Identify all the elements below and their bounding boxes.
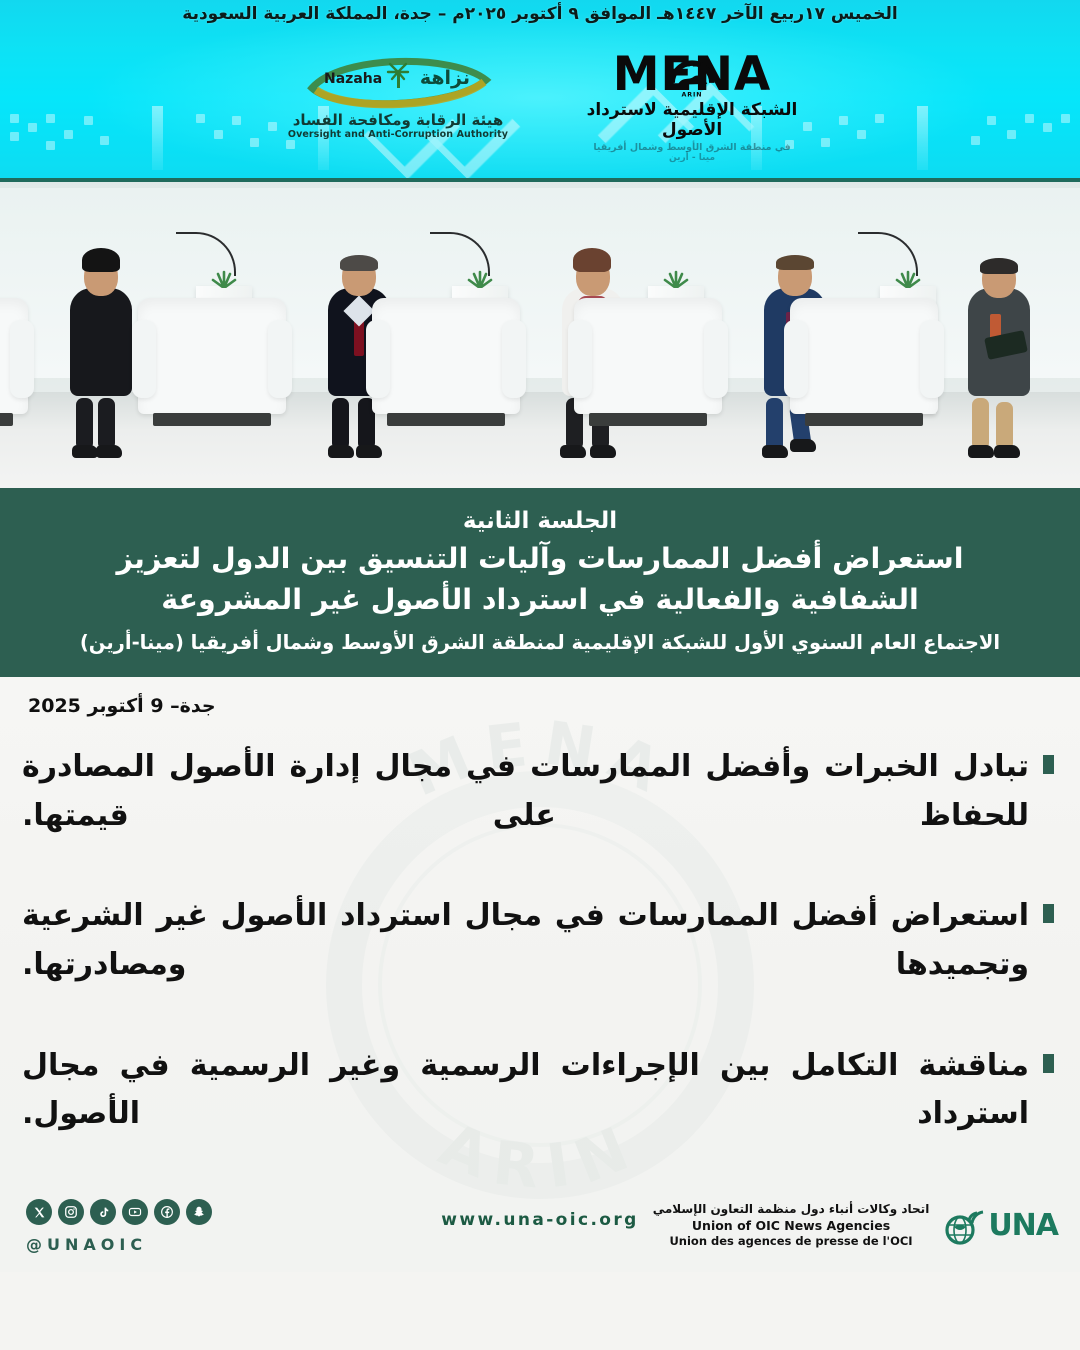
mena-arabic-short: مينا - أرين [577, 153, 807, 163]
una-arabic-name: اتحاد وكالات أنباء دول منظمة التعاون الإ… [653, 1203, 930, 1216]
chair-1 [0, 298, 28, 414]
panelist-5-hair [980, 258, 1018, 274]
chair-2 [138, 298, 286, 414]
una-text-block: اتحاد وكالات أنباء دول منظمة التعاون الإ… [653, 1203, 930, 1248]
chair-3 [372, 298, 520, 414]
una-french-name: Union des agences de presse de l'OCI [653, 1234, 930, 1248]
list-item: تبادل الخبرات وأفضل الممارسات في مجال إد… [22, 743, 1054, 840]
panelist-1-body [70, 288, 132, 396]
list-item: مناقشة التكامل بين الإجراءات الرسمية وغي… [22, 1042, 1054, 1139]
mena-arabic-name: الشبكة الإقليمية لاسترداد الأصول [577, 100, 807, 140]
svg-text:2019: 2019 [680, 59, 704, 68]
nazaha-english-wordmark: Nazaha [324, 71, 382, 87]
nazaha-authority-arabic: هيئة الرقابة ومكافحة الفساد [273, 111, 523, 129]
content-area: MENA ARIN جدة– 9 أكتوبر 2025 تبادل الخبر… [0, 677, 1080, 1272]
poster-root: الخميس ١٧ربيع الآخر ١٤٤٧هـ الموافق ٩ أكت… [0, 0, 1080, 1350]
panel-photo: Jin Cho Mr. Daniel Lioretta [0, 178, 1080, 488]
nazaha-logo: نزاهة Nazaha هيئة الرقابة ومكافحة الفساد… [273, 52, 523, 140]
mena-wordmark: MENA 2019 ARIN [577, 52, 807, 97]
footer: @UNAOIC www.una-oic.org اتحاد وكالات أنب… [0, 1180, 1080, 1272]
mena-arabic-region: في منطقة الشرق الأوسط وشمال أفريقيا [577, 142, 807, 153]
una-english-name: Union of OIC News Agencies [653, 1218, 930, 1234]
panelist-5-legs [972, 398, 1030, 448]
palm-tree-icon [388, 64, 408, 88]
bullet-text: استعراض أفضل الممارسات في مجال استرداد ا… [22, 892, 1029, 989]
panelist-1-legs [72, 398, 130, 448]
plant-icon-3 [656, 266, 696, 288]
una-globe-wifi-icon [943, 1205, 987, 1247]
session-subtitle: الاجتماع العام السنوي الأول للشبكة الإقل… [48, 628, 1032, 657]
list-item: استعراض أفضل الممارسات في مجال استرداد ا… [22, 892, 1054, 989]
event-date-strip: الخميس ١٧ربيع الآخر ١٤٤٧هـ الموافق ٩ أكت… [0, 4, 1080, 24]
chair-4 [574, 298, 722, 414]
bullet-list: تبادل الخبرات وأفضل الممارسات في مجال إد… [0, 743, 1080, 1191]
bullet-square-icon [1043, 1054, 1054, 1073]
panelist-2-hair [340, 255, 378, 271]
una-emblem: UNA [943, 1205, 1058, 1247]
panelist-1-hair [82, 248, 120, 272]
logo-row: MENA 2019 ARIN الشبكة الإقليمية لاسترداد… [0, 52, 1080, 163]
svg-text:ARIN: ARIN [682, 91, 703, 98]
nazaha-arabic-wordmark: نزاهة [420, 67, 470, 89]
nazaha-emblem: نزاهة Nazaha [298, 54, 498, 110]
panelist-4-hair [776, 255, 814, 270]
bullet-square-icon [1043, 904, 1054, 923]
bullet-text: مناقشة التكامل بين الإجراءات الرسمية وغي… [22, 1042, 1029, 1139]
header-banner: الخميس ١٧ربيع الآخر ١٤٤٧هـ الموافق ٩ أكت… [0, 0, 1080, 178]
mena-arin-logo: MENA 2019 ARIN الشبكة الإقليمية لاسترداد… [577, 52, 807, 163]
session-title-block: الجلسة الثانية استعراض أفضل الممارسات وآ… [0, 488, 1080, 677]
session-label: الجلسة الثانية [48, 506, 1032, 537]
dateline: جدة– 9 أكتوبر 2025 [28, 695, 216, 717]
una-logo-block: اتحاد وكالات أنباء دول منظمة التعاون الإ… [653, 1203, 1058, 1248]
session-title: استعراض أفضل الممارسات وآليات التنسيق بي… [48, 539, 1032, 620]
una-wordmark: UNA [988, 1208, 1058, 1243]
bullet-square-icon [1043, 755, 1054, 774]
chair-5 [790, 298, 938, 414]
panelist-3-hair [573, 248, 611, 272]
social-handle[interactable]: @UNAOIC [26, 1235, 212, 1254]
bullet-text: تبادل الخبرات وأفضل الممارسات في مجال إد… [22, 743, 1029, 840]
mena-ring-emblem: 2019 ARIN [665, 46, 719, 100]
nazaha-authority-english: Oversight and Anti-Corruption Authority [273, 129, 523, 140]
